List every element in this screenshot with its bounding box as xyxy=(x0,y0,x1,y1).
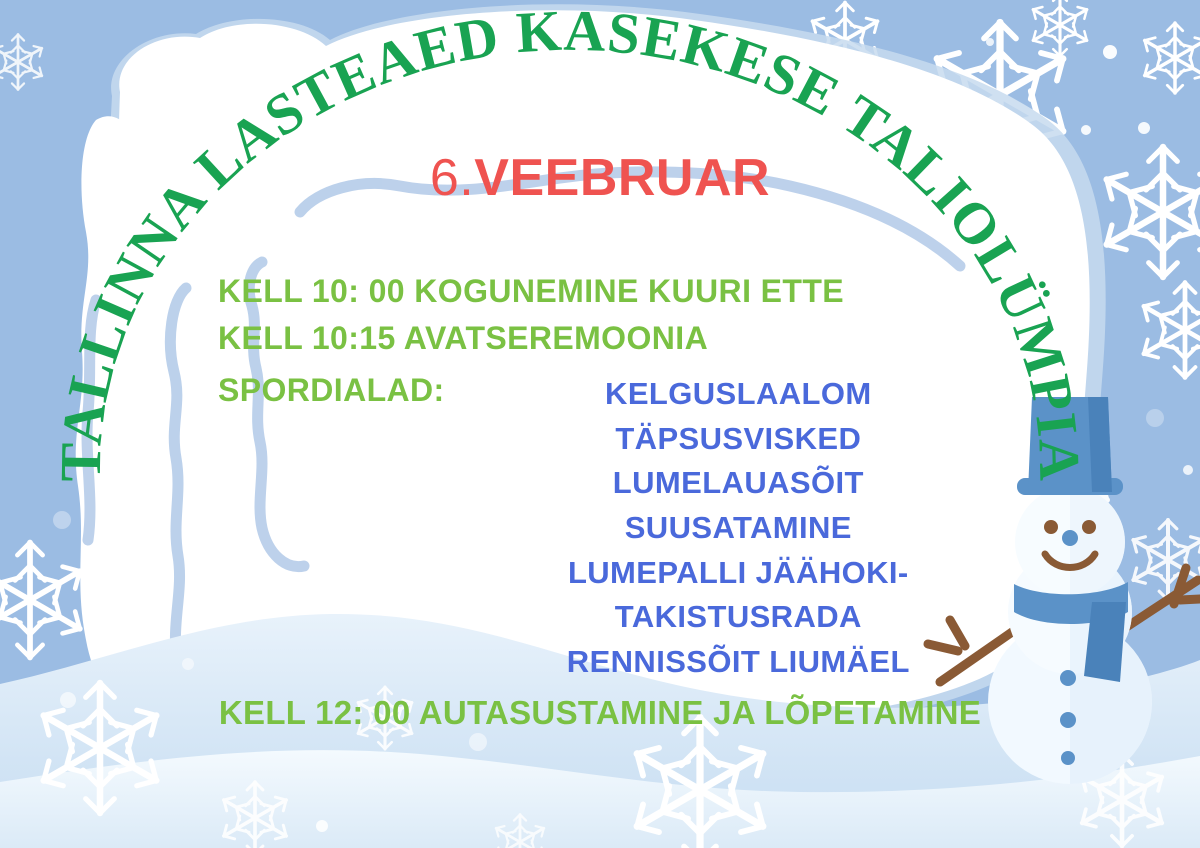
poster-background: TALLINNA LASTEAED KASEKESE TALIOLÜMPIA xyxy=(0,0,1200,848)
winter-olympics-poster: TALLINNA LASTEAED KASEKESE TALIOLÜMPIA 6… xyxy=(0,0,1200,848)
snowman-button xyxy=(1060,670,1076,686)
snowman-eye-left xyxy=(1044,520,1058,534)
snowman-nose xyxy=(1062,530,1078,546)
snowman-eye-right xyxy=(1082,520,1096,534)
snowman-button xyxy=(1060,712,1076,728)
snowman-button xyxy=(1061,751,1075,765)
